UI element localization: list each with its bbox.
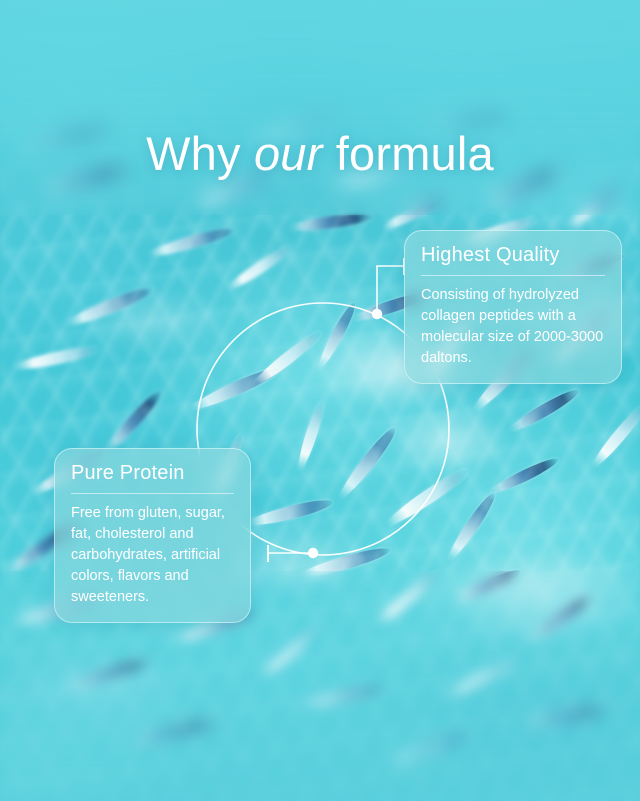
- title-part-after: formula: [323, 127, 494, 180]
- top-blur-veil: [0, 0, 640, 215]
- title-part-before: Why: [146, 127, 254, 180]
- callout-title-highest-quality: Highest Quality: [421, 244, 605, 275]
- callout-title-pure-protein: Pure Protein: [71, 462, 234, 493]
- page-title: Why our formula: [0, 129, 640, 178]
- callout-divider: [421, 275, 605, 276]
- callout-body-highest-quality: Consisting of hydrolyzed collagen peptid…: [421, 285, 605, 369]
- callout-card-pure-protein: Pure Protein Free from gluten, sugar, fa…: [54, 448, 251, 623]
- callout-card-highest-quality: Highest Quality Consisting of hydrolyzed…: [404, 230, 622, 384]
- promo-banner: Why our formula Highest Quality Consisti…: [0, 0, 640, 801]
- callout-divider: [71, 493, 234, 494]
- callout-body-pure-protein: Free from gluten, sugar, fat, cholestero…: [71, 503, 234, 608]
- title-emphasis: our: [254, 127, 323, 180]
